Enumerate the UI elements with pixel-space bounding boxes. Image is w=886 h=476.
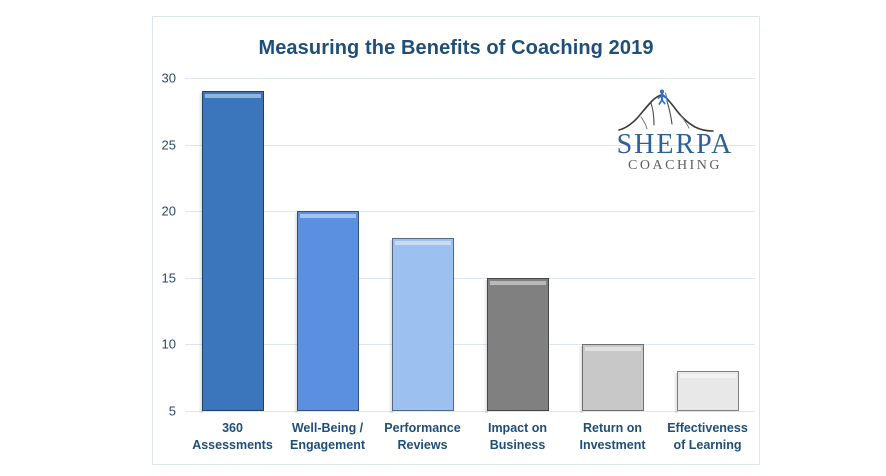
bar — [582, 344, 644, 411]
chart-container: Measuring the Benefits of Coaching 2019 … — [152, 16, 760, 465]
y-axis-tick-label: 30 — [162, 71, 176, 86]
y-axis-tick-label: 10 — [162, 337, 176, 352]
bar — [297, 211, 359, 411]
x-axis-category-label: PerformanceReviews — [375, 420, 470, 454]
x-axis-category-label: Effectivenessof Learning — [660, 420, 755, 454]
bar — [392, 238, 454, 411]
bar-body — [677, 371, 739, 411]
y-axis-tick-label: 20 — [162, 204, 176, 219]
category-label-line: Investment — [565, 437, 660, 454]
y-axis-tick-label: 15 — [162, 270, 176, 285]
category-label-line: Return on — [565, 420, 660, 437]
x-axis-category-label: 360Assessments — [185, 420, 280, 454]
bar-highlight — [205, 94, 261, 98]
bar-highlight — [490, 281, 546, 285]
bar-body — [297, 211, 359, 411]
category-label-line: 360 — [185, 420, 280, 437]
category-label-line: Impact on — [470, 420, 565, 437]
bar-body — [202, 91, 264, 411]
gridline — [185, 78, 755, 79]
x-axis-category-label: Impact onBusiness — [470, 420, 565, 454]
bar — [677, 371, 739, 411]
category-label-line: Reviews — [375, 437, 470, 454]
x-axis-category-label: Return onInvestment — [565, 420, 660, 454]
bar-highlight — [680, 374, 736, 378]
x-axis-category-label: Well-Being /Engagement — [280, 420, 375, 454]
category-label-line: Effectiveness — [660, 420, 755, 437]
bar-body — [582, 344, 644, 411]
category-label-line: of Learning — [660, 437, 755, 454]
mountain-with-climber-icon — [617, 89, 717, 133]
y-axis-tick-label: 25 — [162, 137, 176, 152]
logo-tagline: COACHING — [605, 159, 745, 173]
logo-wordmark: SHERPA — [605, 131, 745, 159]
bar — [202, 91, 264, 411]
category-label-line: Engagement — [280, 437, 375, 454]
chart-title: Measuring the Benefits of Coaching 2019 — [153, 37, 759, 60]
bar-body — [487, 278, 549, 411]
category-label-line: Performance — [375, 420, 470, 437]
bar-highlight — [585, 347, 641, 351]
category-label-line: Business — [470, 437, 565, 454]
gridline — [185, 211, 755, 212]
category-label-line: Assessments — [185, 437, 280, 454]
gridline — [185, 344, 755, 345]
bar-highlight — [395, 241, 451, 245]
gridline — [185, 411, 755, 412]
y-axis-tick-label: 5 — [169, 404, 176, 419]
bar-highlight — [300, 214, 356, 218]
bar — [487, 278, 549, 411]
sherpa-coaching-logo: SHERPA COACHING — [605, 89, 745, 177]
bar-body — [392, 238, 454, 411]
category-label-line: Well-Being / — [280, 420, 375, 437]
gridline — [185, 278, 755, 279]
